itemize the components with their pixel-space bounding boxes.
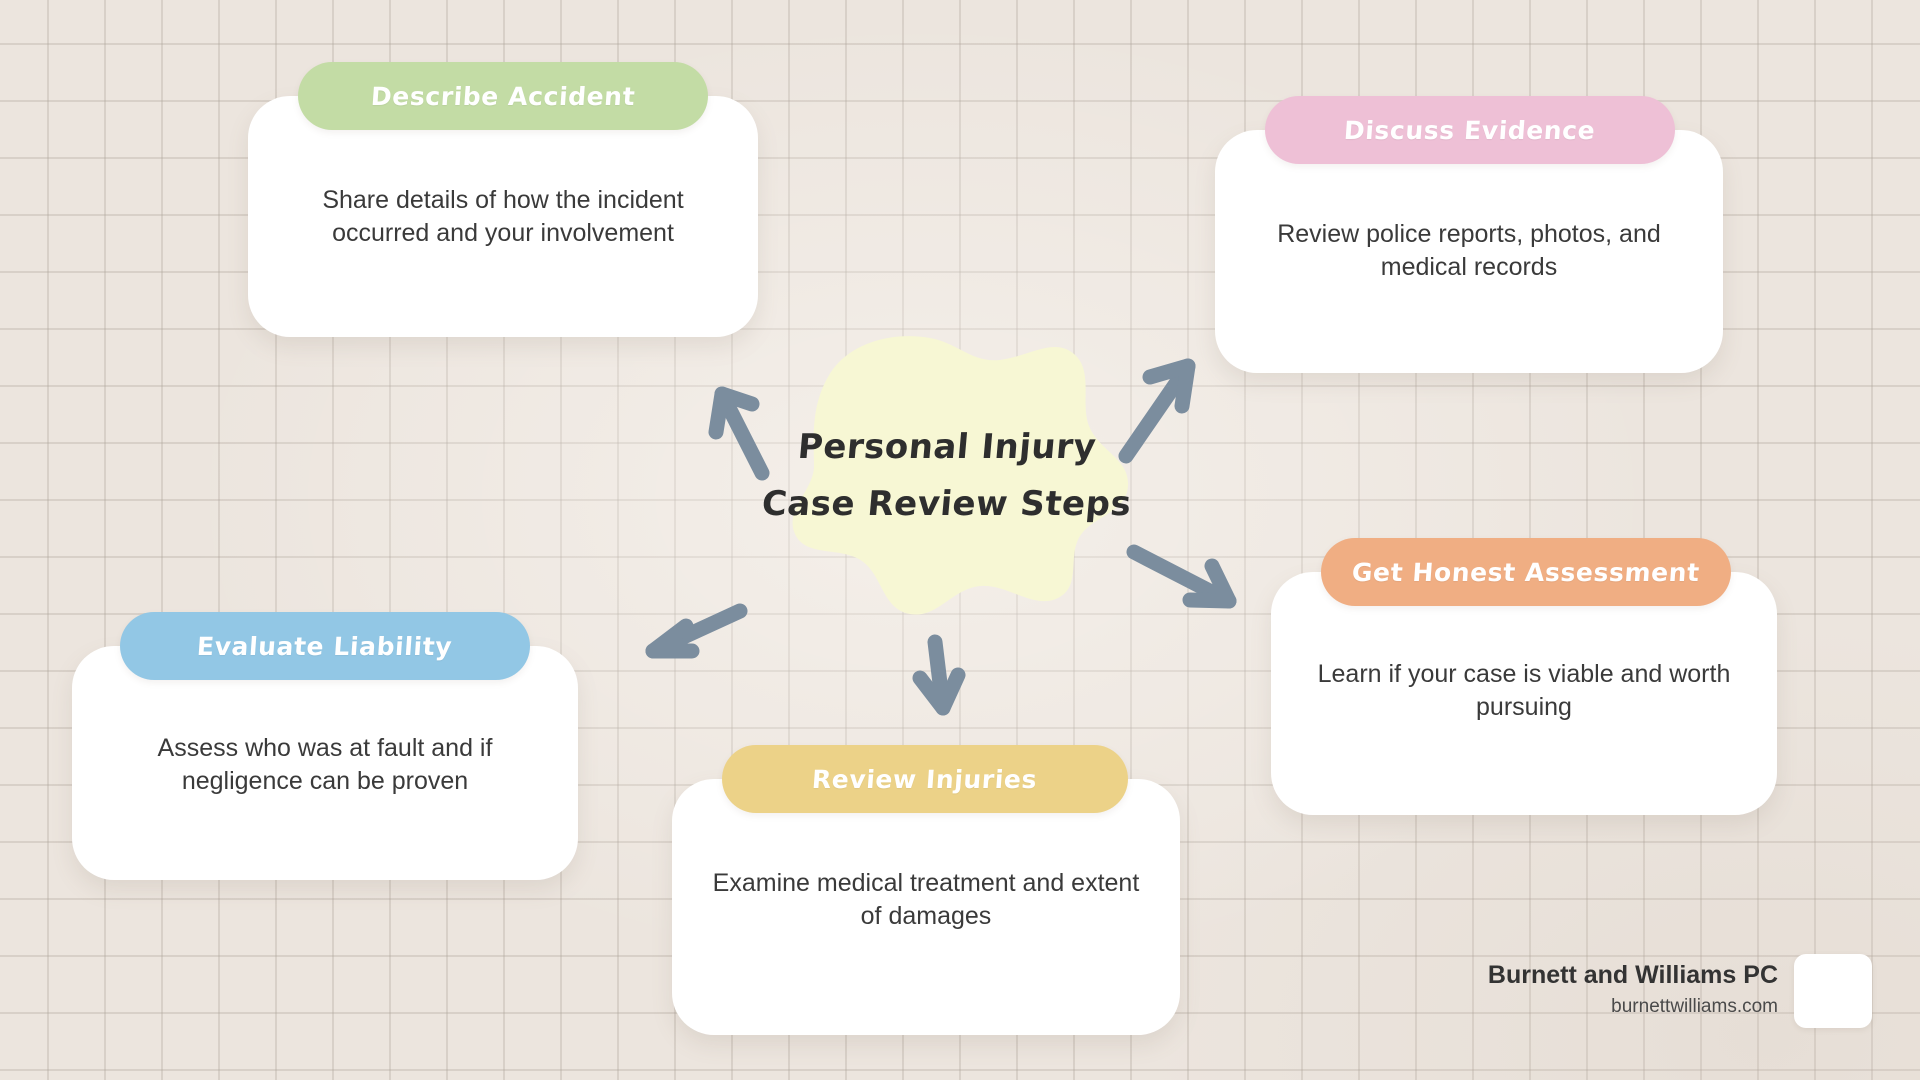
card-review-injuries[interactable]: Review Injuries Examine medical treatmen… (672, 745, 1180, 1035)
card-header-pill: Describe Accident (298, 62, 708, 130)
card-description: Learn if your case is viable and worth p… (1301, 658, 1746, 725)
arrow-to-review-injuries-icon (920, 642, 958, 708)
card-title: Evaluate Liability (196, 632, 453, 661)
card-get-honest-assessment[interactable]: Get Honest Assessment Learn if your case… (1271, 538, 1777, 833)
card-description: Examine medical treatment and extent of … (702, 867, 1149, 934)
card-title: Describe Accident (370, 82, 636, 111)
card-discuss-evidence[interactable]: Discuss Evidence Review police reports, … (1215, 96, 1723, 391)
arrow-to-discuss-evidence-icon (1126, 366, 1188, 456)
blob-shape-icon (762, 330, 1132, 620)
arrow-to-evaluate-liability-icon (653, 611, 740, 651)
brand-text-group: Burnett and Williams PC burnettwilliams.… (1488, 960, 1778, 1022)
card-header-pill: Evaluate Liability (120, 612, 530, 680)
card-header-pill: Discuss Evidence (1265, 96, 1675, 164)
card-title: Discuss Evidence (1343, 116, 1596, 145)
card-header-pill: Get Honest Assessment (1321, 538, 1731, 606)
card-title: Get Honest Assessment (1351, 558, 1701, 587)
card-description: Review police reports, photos, and medic… (1245, 218, 1692, 285)
infographic-canvas: Describe Accident Share details of how t… (0, 0, 1920, 1080)
card-describe-accident[interactable]: Describe Accident Share details of how t… (248, 62, 758, 337)
card-description: Assess who was at fault and if negligenc… (102, 732, 547, 799)
card-description: Share details of how the incident occurr… (279, 184, 728, 251)
center-focus-blob: Personal Injury Case Review Steps (762, 330, 1132, 620)
arrow-to-describe-accident-icon (716, 394, 762, 473)
branding: Burnett and Williams PC burnettwilliams.… (1488, 954, 1872, 1028)
arrow-to-get-honest-assessment-icon (1134, 552, 1229, 601)
brand-name: Burnett and Williams PC (1488, 960, 1778, 991)
card-header-pill: Review Injuries (722, 745, 1128, 813)
brand-url[interactable]: burnettwilliams.com (1488, 993, 1778, 1022)
card-evaluate-liability[interactable]: Evaluate Liability Assess who was at fau… (72, 612, 578, 897)
card-title: Review Injuries (811, 765, 1038, 794)
brand-logo-icon (1794, 954, 1872, 1028)
